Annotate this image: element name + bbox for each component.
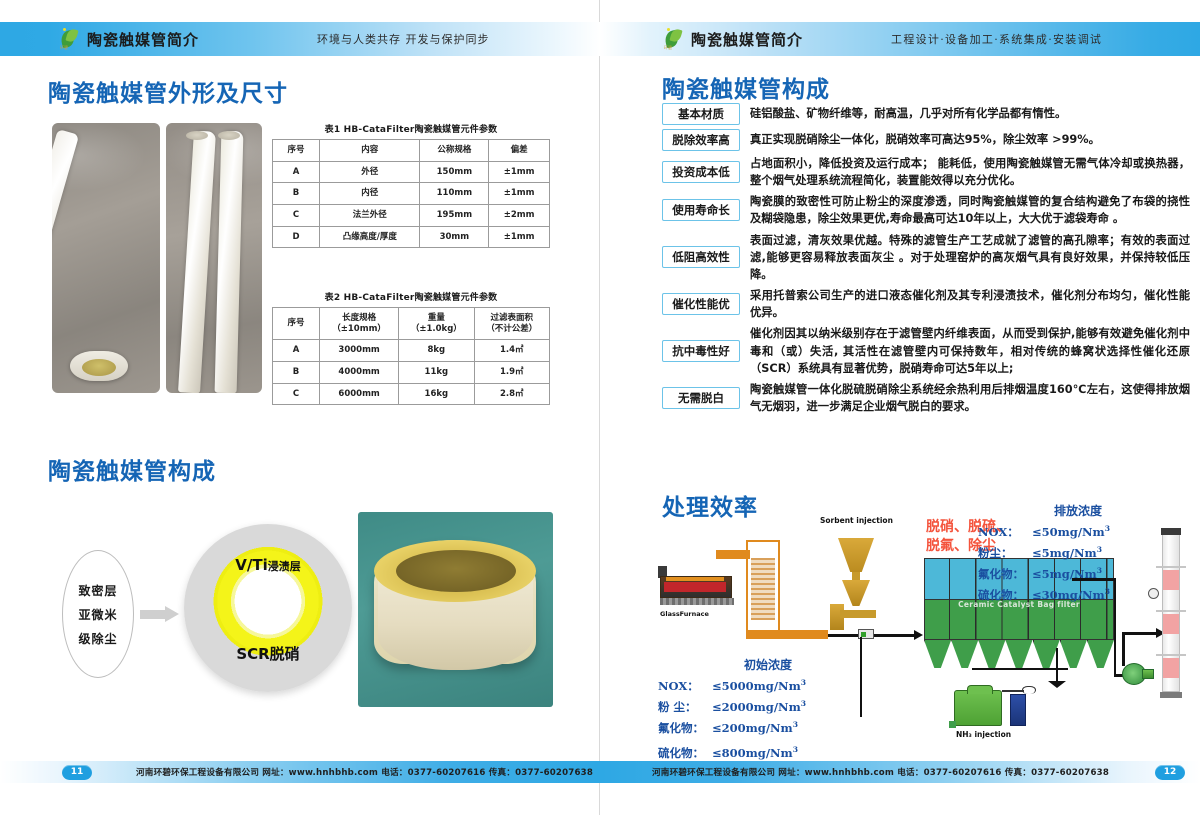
outlet-row: 氟化物：≤5mg/Nm3 xyxy=(978,566,1178,582)
t2-r2c2: 16kg xyxy=(399,383,474,405)
left-header-slogan: 环境与人类共存 开发与保护同步 xyxy=(317,31,490,47)
feature-text: 陶瓷膜的致密性可防止粉尘的深度渗透，同时陶瓷触媒管的复合结构避免了布袋的挠性及糊… xyxy=(740,193,1190,227)
t1-r3c1: 凸缘高度/厚度 xyxy=(320,226,420,248)
inlet-name-1: 粉 尘： xyxy=(658,699,712,715)
green-leaf-logo-icon: 环碧 xyxy=(58,28,80,50)
inlet-row: 氟化物：≤200mg/Nm3 xyxy=(658,720,878,736)
outlet-sup-0: 3 xyxy=(1105,524,1110,533)
feature-tag: 无需脱白 xyxy=(662,387,740,409)
ceramic-tube-pair-photo xyxy=(166,123,262,393)
right-page-footer: 河南环碧环保工程设备有限公司 网址：www.hnhbhb.com 电话：0377… xyxy=(600,761,1200,783)
table-row: C 6000mm 16kg 2.8㎡ xyxy=(273,383,550,405)
spec-table-2: 序号 长度规格 （±10mm） 重量 （±1.0kg） 过滤表面积 （不计公差）… xyxy=(272,307,550,405)
inlet-name-2: 氟化物： xyxy=(658,720,712,736)
outlet-name-0: NOX： xyxy=(978,524,1032,540)
t1-r1c2: 110mm xyxy=(420,183,489,205)
t1-h0: 序号 xyxy=(273,140,320,162)
fan-outlet-riser xyxy=(1122,632,1125,666)
feature-tag: 基本材质 xyxy=(662,103,740,125)
table-row: C 法兰外径 195mm ±2mm xyxy=(273,204,550,226)
oval-line-1: 亚微米 xyxy=(78,606,117,623)
t1-h1: 内容 xyxy=(320,140,420,162)
nh3-injection-label: NH₃ injection xyxy=(956,730,1011,739)
t2-r0c0: A xyxy=(273,340,320,362)
t1-r2c1: 法兰外径 xyxy=(320,204,420,226)
duct-arrow-icon xyxy=(914,630,923,640)
feature-text: 硅铝酸盐、矿物纤维等，耐高温，几乎对所有化学品都有惰性。 xyxy=(740,105,1190,122)
t2-r0c1: 3000mm xyxy=(320,340,399,362)
inlet-value-0: ≤5000mg/Nm xyxy=(712,679,801,693)
left-page: 环碧 陶瓷触媒管简介 环境与人类共存 开发与保护同步 陶瓷触媒管外形及尺寸 表1… xyxy=(0,0,600,815)
t2-r1c2: 11kg xyxy=(399,361,474,383)
economizer-outlet-duct xyxy=(746,630,828,639)
feature-tag: 低阻高效性 xyxy=(662,246,740,268)
feature-text: 表面过滤，清灰效果优越。特殊的滤管生产工艺成就了滤管的高孔隙率；有效的表面过滤,… xyxy=(740,232,1190,283)
brochure-spread: 环碧 陶瓷触媒管简介 环境与人类共存 开发与保护同步 陶瓷触媒管外形及尺寸 表1… xyxy=(0,0,1200,815)
sorbent-injection-label: Sorbent injection xyxy=(820,516,893,525)
table1-caption: 表1 HB-CataFilter陶瓷触媒管元件参数 xyxy=(272,122,550,135)
outlet-row: 粉尘：≤5mg/Nm3 xyxy=(978,545,1178,561)
t2-h3: 过滤表面积 （不计公差） xyxy=(474,308,550,340)
feature-list: 基本材质 硅铝酸盐、矿物纤维等，耐高温，几乎对所有化学品都有惰性。 脱除效率高 … xyxy=(662,103,1190,419)
feature-tag: 投资成本低 xyxy=(662,161,740,183)
t1-r0c1: 外径 xyxy=(320,161,420,183)
table-row: A 外径 150mm ±1mm xyxy=(273,161,550,183)
inlet-sup-1: 3 xyxy=(801,699,806,708)
t1-r1c0: B xyxy=(273,183,320,205)
feature-text: 真正实现脱硝除尘一体化，脱硝效率可高达95%，除尘效率 >99%。 xyxy=(740,131,1190,148)
inlet-name-3: 硫化物： xyxy=(658,745,712,761)
footer-contact-right: 河南环碧环保工程设备有限公司 网址：www.hnhbhb.com 电话：0377… xyxy=(652,766,1109,778)
induced-draft-fan-icon xyxy=(1120,662,1154,688)
tube-composition-diagram: 致密层 亚微米 级除尘 V/Ti浸渍层 SCR脱硝 xyxy=(62,518,352,718)
inlet-value-3: ≤800mg/Nm xyxy=(712,746,793,760)
t1-r2c3: ±2mm xyxy=(489,204,550,226)
ceramic-tube-cross-section-photo xyxy=(358,512,553,707)
donut-ring-graphic: V/Ti浸渍层 SCR脱硝 xyxy=(184,524,352,692)
glass-furnace-label: GlassFurnace xyxy=(660,610,709,618)
left-section-title-composition: 陶瓷触媒管构成 xyxy=(48,452,216,486)
t1-r0c2: 150mm xyxy=(420,161,489,183)
t1-r2c2: 195mm xyxy=(420,204,489,226)
hopper-manifold xyxy=(972,668,1068,670)
t1-r3c3: ±1mm xyxy=(489,226,550,248)
outlet-sup-2: 3 xyxy=(1097,566,1102,575)
t2-h1: 长度规格 （±10mm） xyxy=(320,308,399,340)
feature-row: 使用寿命长 陶瓷膜的致密性可防止粉尘的深度渗透，同时陶瓷触媒管的复合结构避免了布… xyxy=(662,193,1190,227)
stack-inlet-duct xyxy=(1122,632,1160,635)
feature-text: 催化剂因其以纳米级别存在于滤管壁内纤维表面，从而受到保护,能够有效避免催化剂中毒… xyxy=(740,325,1190,376)
feature-row: 基本材质 硅铝酸盐、矿物纤维等，耐高温，几乎对所有化学品都有惰性。 xyxy=(662,103,1190,125)
sorbent-injection-icon: Sorbent injection xyxy=(828,516,884,636)
t1-r1c1: 内径 xyxy=(320,183,420,205)
t1-r3c2: 30mm xyxy=(420,226,489,248)
inlet-value-2: ≤200mg/Nm xyxy=(712,721,793,735)
ceramic-tube-single-photo xyxy=(52,123,160,393)
left-header-title: 陶瓷触媒管简介 xyxy=(87,29,199,50)
oval-line-0: 致密层 xyxy=(78,582,117,599)
table-row: A 3000mm 8kg 1.4㎡ xyxy=(273,340,550,362)
outlet-row: NOX：≤50mg/Nm3 xyxy=(978,524,1178,540)
t2-r2c1: 6000mm xyxy=(320,383,399,405)
feature-row: 投资成本低 占地面积小，降低投资及运行成本； 能耗低，使用陶瓷触媒管无需气体冷却… xyxy=(662,155,1190,189)
outlet-row: 硫化物：≤30mg/Nm3 xyxy=(978,587,1178,603)
t2-r0c2: 8kg xyxy=(399,340,474,362)
feature-tag: 抗中毒性好 xyxy=(662,340,740,362)
spec-table-2-wrap: 表2 HB-CataFilter陶瓷触媒管元件参数 序号 长度规格 （±10mm… xyxy=(272,290,550,405)
outlet-sup-3: 3 xyxy=(1105,587,1110,596)
feature-row: 抗中毒性好 催化剂因其以纳米级别存在于滤管壁内纤维表面，从而受到保护,能够有效避… xyxy=(662,325,1190,376)
outlet-concentration-title: 排放浓度 xyxy=(978,502,1178,519)
table-header-row: 序号 长度规格 （±10mm） 重量 （±1.0kg） 过滤表面积 （不计公差） xyxy=(273,308,550,340)
inlet-sup-0: 3 xyxy=(801,678,806,687)
outlet-value-3: ≤30mg/Nm xyxy=(1032,588,1105,602)
t1-h2: 公称规格 xyxy=(420,140,489,162)
t2-r2c3: 2.8㎡ xyxy=(474,383,550,405)
green-leaf-logo-icon: 环碧 xyxy=(662,28,684,50)
t2-r2c0: C xyxy=(273,383,320,405)
ash-discharge-line xyxy=(1056,648,1058,682)
feature-tag: 使用寿命长 xyxy=(662,199,740,221)
ring-top-main: V/Ti xyxy=(235,556,267,574)
t1-h3: 偏差 xyxy=(489,140,550,162)
glass-furnace-icon: GlassFurnace xyxy=(660,568,748,624)
right-page-header: 环碧 陶瓷触媒管简介 工程设计·设备加工·系统集成·安装调试 xyxy=(600,22,1200,56)
t1-r0c3: ±1mm xyxy=(489,161,550,183)
outlet-name-3: 硫化物： xyxy=(978,587,1032,603)
t2-h2: 重量 （±1.0kg） xyxy=(399,308,474,340)
outlet-sup-1: 3 xyxy=(1097,545,1102,554)
inlet-concentration-title: 初始浓度 xyxy=(658,656,878,673)
table-header-row: 序号 内容 公称规格 偏差 xyxy=(273,140,550,162)
right-header-title: 陶瓷触媒管简介 xyxy=(691,29,803,50)
feature-row: 无需脱白 陶瓷触媒管一体化脱硫脱硝除尘系统经余热利用后排烟温度160℃左右，这使… xyxy=(662,381,1190,415)
left-page-footer: 11 河南环碧环保工程设备有限公司 网址：www.hnhbhb.com 电话：0… xyxy=(0,761,600,783)
left-page-header: 环碧 陶瓷触媒管简介 环境与人类共存 开发与保护同步 xyxy=(0,22,600,56)
inlet-value-1: ≤2000mg/Nm xyxy=(712,700,801,714)
spec-table-1-wrap: 表1 HB-CataFilter陶瓷触媒管元件参数 序号 内容 公称规格 偏差 … xyxy=(272,122,550,248)
t2-r1c3: 1.9㎡ xyxy=(474,361,550,383)
t1-r0c0: A xyxy=(273,161,320,183)
table-row: B 内径 110mm ±1mm xyxy=(273,183,550,205)
table-row: B 4000mm 11kg 1.9㎡ xyxy=(273,361,550,383)
nh3-injection-icon: NH₃ injection xyxy=(948,684,1040,740)
footer-contact-left: 河南环碧环保工程设备有限公司 网址：www.hnhbhb.com 电话：0377… xyxy=(136,766,593,778)
ash-discharge-icon xyxy=(1048,681,1066,688)
ring-top-label: V/Ti浸渍层 xyxy=(184,556,352,574)
inlet-sup-3: 3 xyxy=(793,745,798,754)
t2-r1c0: B xyxy=(273,361,320,383)
right-header-slogan: 工程设计·设备加工·系统集成·安装调试 xyxy=(891,31,1102,47)
right-section-title-composition: 陶瓷触媒管构成 xyxy=(662,70,830,104)
spec-table-1: 序号 内容 公称规格 偏差 A 外径 150mm ±1mm xyxy=(272,139,550,248)
t1-r1c3: ±1mm xyxy=(489,183,550,205)
furnace-duct xyxy=(716,550,750,559)
grey-arrow-icon xyxy=(140,606,180,622)
t2-r1c1: 4000mm xyxy=(320,361,399,383)
t2-h0: 序号 xyxy=(273,308,320,340)
table2-caption: 表2 HB-CataFilter陶瓷触媒管元件参数 xyxy=(272,290,550,303)
feature-text: 陶瓷触媒管一体化脱硫脱硝除尘系统经余热利用后排烟温度160℃左右，这使得排放烟气… xyxy=(740,381,1190,415)
right-page: 环碧 陶瓷触媒管简介 工程设计·设备加工·系统集成·安装调试 陶瓷触媒管构成 基… xyxy=(600,0,1200,815)
t2-r0c3: 1.4㎡ xyxy=(474,340,550,362)
outlet-value-1: ≤5mg/Nm xyxy=(1032,546,1097,560)
left-section-title-dimensions: 陶瓷触媒管外形及尺寸 xyxy=(48,74,288,108)
table-row: D 凸缘高度/厚度 30mm ±1mm xyxy=(273,226,550,248)
dense-layer-callout: 致密层 亚微米 级除尘 xyxy=(62,550,134,678)
process-flow-diagram: GlassFurnace Sorbent injection xyxy=(652,508,1197,763)
feature-tag: 催化性能优 xyxy=(662,293,740,315)
feature-row: 低阻高效性 表面过滤，清灰效果优越。特殊的滤管生产工艺成就了滤管的高孔隙率；有效… xyxy=(662,232,1190,283)
outlet-concentration-block: 排放浓度 NOX：≤50mg/Nm3 粉尘：≤5mg/Nm3 氟化物：≤5mg/… xyxy=(978,502,1178,603)
outlet-name-2: 氟化物： xyxy=(978,566,1032,582)
t1-r2c0: C xyxy=(273,204,320,226)
inlet-sup-2: 3 xyxy=(793,720,798,729)
inlet-row: 硫化物：≤800mg/Nm3 xyxy=(658,745,878,761)
ring-top-small: 浸渍层 xyxy=(268,560,301,573)
outlet-value-2: ≤5mg/Nm xyxy=(1032,567,1097,581)
feature-row: 脱除效率高 真正实现脱硝除尘一体化，脱硝效率可高达95%，除尘效率 >99%。 xyxy=(662,129,1190,151)
inlet-row: 粉 尘：≤2000mg/Nm3 xyxy=(658,699,878,715)
oval-line-2: 级除尘 xyxy=(78,630,117,647)
economizer-icon xyxy=(746,540,780,636)
feature-row: 催化性能优 采用托普索公司生产的进口液态催化剂及其专利浸渍技术，催化剂分布均匀，… xyxy=(662,287,1190,321)
feature-text: 占地面积小，降低投资及运行成本； 能耗低，使用陶瓷触媒管无需气体冷却或换热器，整… xyxy=(740,155,1190,189)
outlet-name-1: 粉尘： xyxy=(978,545,1032,561)
t1-r3c0: D xyxy=(273,226,320,248)
ring-bottom-label: SCR脱硝 xyxy=(184,643,352,664)
feature-tag: 脱除效率高 xyxy=(662,129,740,151)
feature-text: 采用托普索公司生产的进口液态催化剂及其专利浸渍技术，催化剂分布均匀，催化性能优异… xyxy=(740,287,1190,321)
inlet-concentration-block: 初始浓度 NOX：≤5000mg/Nm3 粉 尘：≤2000mg/Nm3 氟化物… xyxy=(658,656,878,761)
outlet-value-0: ≤50mg/Nm xyxy=(1032,525,1105,539)
inlet-row: NOX：≤5000mg/Nm3 xyxy=(658,678,878,694)
page-number-badge-left: 11 xyxy=(62,765,92,780)
inlet-name-0: NOX： xyxy=(658,678,712,694)
page-number-badge-right: 12 xyxy=(1155,765,1185,780)
